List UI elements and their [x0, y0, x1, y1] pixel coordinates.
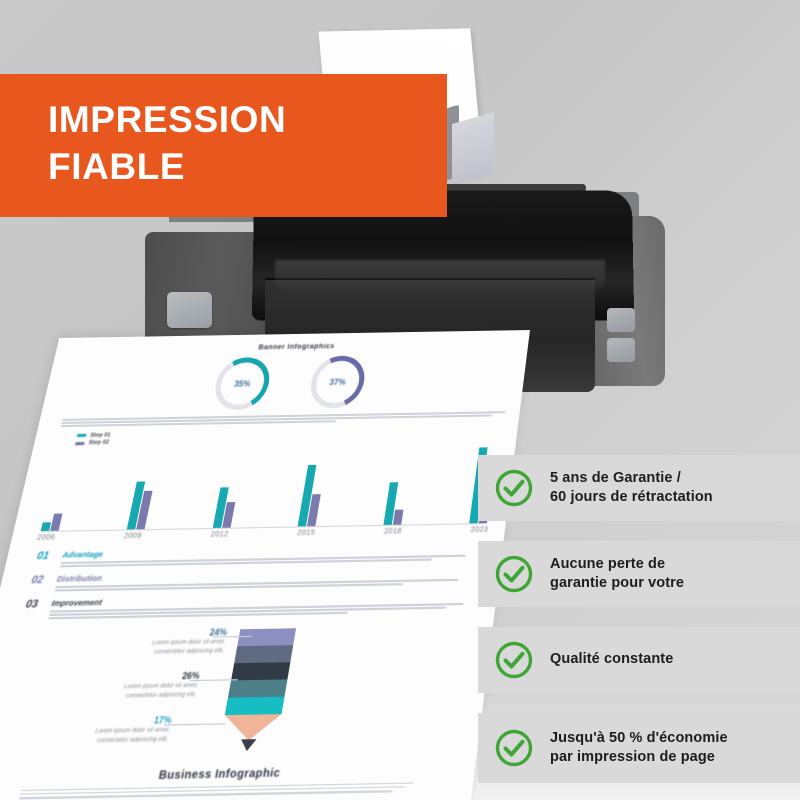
- step-item-02: 02 Distribution: [28, 567, 481, 594]
- feature-box-label: Aucune perte de garantie pour votre: [550, 555, 684, 593]
- step-number: 01: [36, 551, 58, 563]
- pencil-graphic: [220, 628, 296, 741]
- pencil-lead-tip: [239, 739, 256, 751]
- pyramid-text: Lorem ipsum dolor sit amet, consectetur …: [91, 681, 199, 702]
- pyramid-callout-1: 24% Lorem ipsum dolor sit amet, consecte…: [119, 627, 228, 658]
- x-tick: 2015: [297, 530, 316, 538]
- donut-chart-2: 37%: [307, 355, 368, 408]
- printer-side-button: [167, 292, 212, 328]
- infographic-body-text: [61, 411, 506, 427]
- feature-box-line1: Qualité constante: [550, 650, 673, 669]
- donut-value-2: 37%: [307, 355, 368, 408]
- printer-button-2: [607, 338, 635, 362]
- bar-group-2006: [41, 514, 63, 531]
- feature-box-line2: 60 jours de rétractation: [550, 488, 713, 507]
- headline-banner: IMPRESSION FIABLE: [0, 74, 447, 217]
- pencil-segment: [228, 679, 287, 697]
- check-circle-icon: [494, 728, 534, 768]
- step-item-03: 03 Improvement: [22, 591, 478, 622]
- x-tick: 2009: [123, 533, 142, 541]
- x-tick: 2018: [383, 528, 402, 536]
- bar-chart: [41, 441, 498, 531]
- feature-box-line2: par impression de page: [550, 748, 728, 767]
- feature-box-4[interactable]: Jusqu'à 50 % d'économie par impression d…: [478, 713, 800, 783]
- numbered-step-list: 01 Advantage 02 Distribution: [22, 543, 484, 622]
- step-number: 02: [30, 575, 52, 587]
- feature-box-2[interactable]: Aucune perte de garantie pour votre: [478, 541, 800, 607]
- check-circle-icon: [494, 554, 534, 594]
- feature-box-label: Jusqu'à 50 % d'économie par impression d…: [550, 729, 728, 767]
- donut-chart-1: 35%: [211, 357, 274, 410]
- feature-box-label: Qualité constante: [550, 650, 673, 669]
- check-circle-icon: [494, 468, 534, 508]
- pencil-segment: [234, 645, 293, 663]
- feature-box-line1: Aucune perte de: [550, 555, 684, 574]
- x-tick: 2006: [36, 534, 55, 542]
- headline-line2: FIABLE: [48, 143, 286, 190]
- donut-chart-group: 35% 37%: [64, 353, 513, 413]
- donut-value-1: 35%: [211, 357, 274, 410]
- pyramid-callout-3: 17% Lorem ipsum dolor sit amet, consecte…: [61, 714, 172, 746]
- printer-button-1: [607, 308, 635, 332]
- headline-text: IMPRESSION FIABLE: [48, 96, 286, 191]
- x-tick: 2012: [210, 531, 229, 539]
- poster-canvas: Banner Infographics 35% 37%: [0, 0, 800, 800]
- bar-step02: [393, 510, 404, 525]
- feature-box-line1: 5 ans de Garantie /: [550, 469, 713, 488]
- legend-swatch: [75, 442, 85, 445]
- bar-step02: [50, 514, 62, 531]
- bar-group-2018: [384, 483, 408, 526]
- bar-group-2012: [212, 488, 237, 529]
- bar-group-2015: [298, 465, 326, 527]
- pyramid-text: Lorem ipsum dolor sit amet, consectetur …: [119, 637, 226, 658]
- printer-cover-highlight: [275, 260, 605, 294]
- printed-infographic-sheet: Banner Infographics 35% 37%: [0, 330, 530, 800]
- bar-group-2009: [126, 482, 154, 530]
- feature-box-line1: Jusqu'à 50 % d'économie: [550, 729, 728, 748]
- feature-box-3[interactable]: Qualité constante: [478, 627, 800, 693]
- headline-line1: IMPRESSION: [48, 96, 286, 143]
- feature-box-1[interactable]: 5 ans de Garantie / 60 jours de rétracta…: [478, 455, 800, 521]
- pencil-segment: [231, 662, 290, 680]
- pencil-segment: [237, 628, 296, 646]
- legend-swatch: [77, 434, 87, 437]
- pyramid-text: Lorem ipsum dolor sit amet, consectetur …: [61, 725, 170, 746]
- legend-label: Step 01: [90, 432, 111, 439]
- feature-box-label: 5 ans de Garantie / 60 jours de rétracta…: [550, 469, 713, 507]
- pencil-wood-tip: [220, 714, 281, 741]
- feature-callout-list: 5 ans de Garantie / 60 jours de rétracta…: [478, 455, 800, 783]
- step-number: 03: [24, 599, 46, 612]
- feature-box-line2: garantie pour votre: [550, 574, 684, 593]
- pyramid-callout-2: 26% Lorem ipsum dolor sit amet, consecte…: [91, 670, 201, 701]
- check-circle-icon: [494, 640, 534, 680]
- pencil-infographic: 24% Lorem ipsum dolor sit amet, consecte…: [0, 620, 479, 767]
- legend-label: Step 02: [88, 440, 110, 447]
- step-item-01: 01 Advantage: [34, 543, 484, 569]
- pencil-segment: [225, 696, 285, 714]
- infographic-title: Banner Infographics: [77, 340, 514, 354]
- business-infographic-subtext: [19, 782, 414, 799]
